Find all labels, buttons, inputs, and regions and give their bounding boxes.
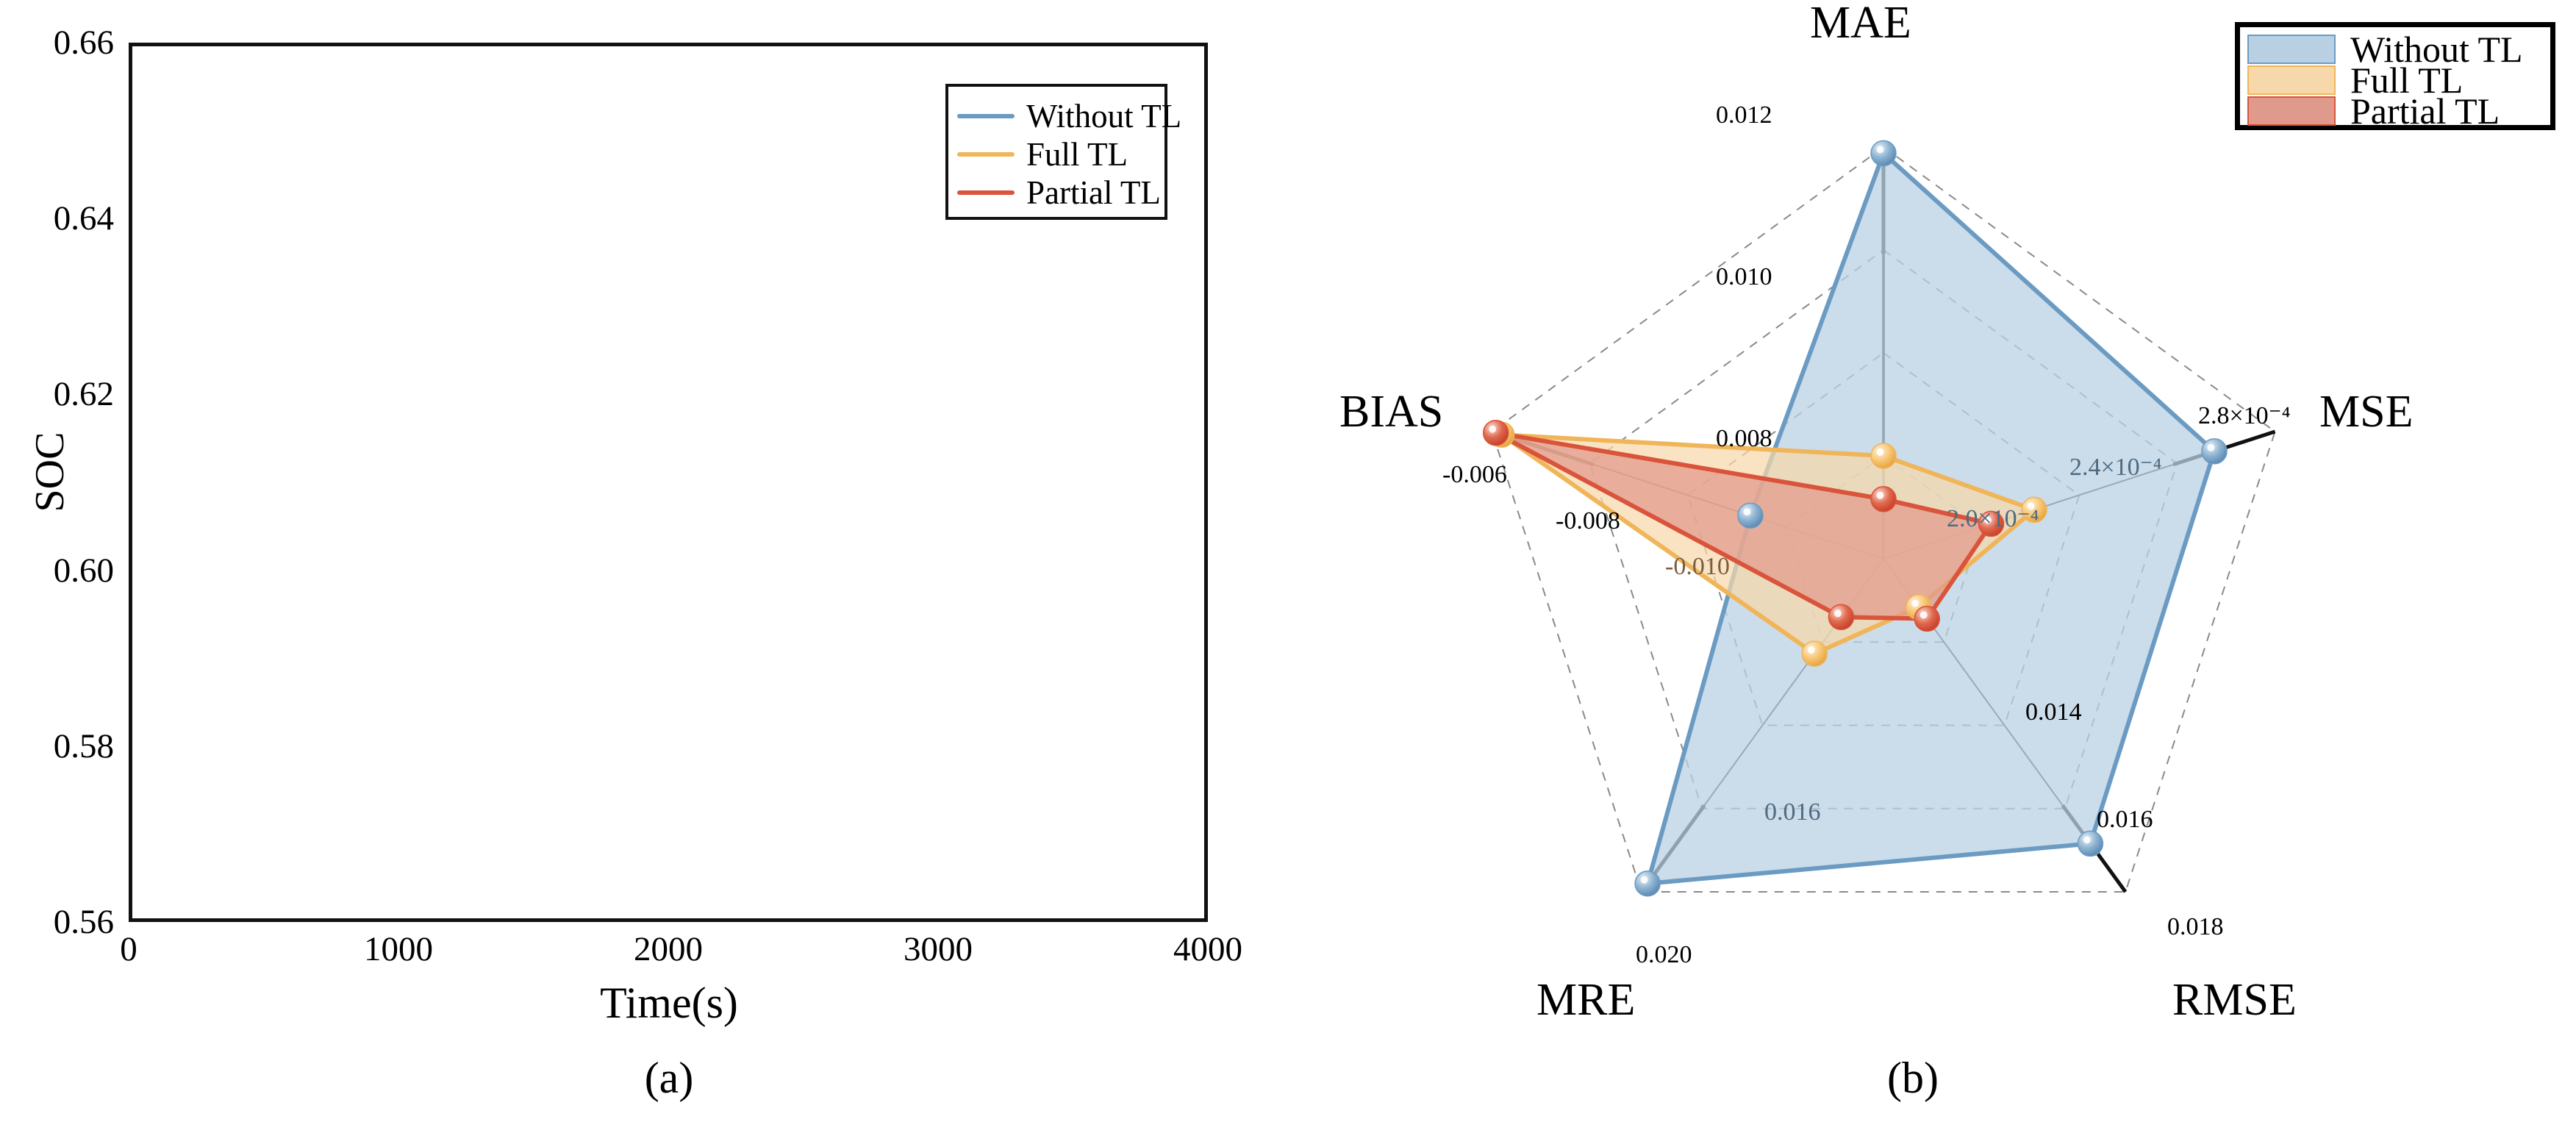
x-tick-label: 0 (120, 929, 137, 969)
radar-axis-label-mae: MAE (1810, 0, 1911, 49)
y-tick-label: 0.64 (54, 199, 114, 238)
y-tick-label: 0.58 (54, 726, 114, 766)
panel-b-legend: Without TL Full TL Partial TL (2235, 22, 2555, 130)
panel-a-x-axis-label: Time(s) (441, 978, 897, 1029)
legend-label: Partial TL (1026, 176, 1161, 210)
legend-item: Full TL (957, 135, 1156, 174)
radar-tick-rmse-1: 0.016 (2097, 806, 2153, 834)
figure-root: 0.66 0.64 0.62 0.60 0.58 0.56 0 1000 200… (0, 0, 2576, 1133)
legend-label: Partial TL (2350, 93, 2500, 129)
radar-marker (1802, 641, 1827, 666)
y-tick-label: 0.56 (54, 902, 114, 942)
radar-tick-bias-1: -0.008 (1556, 507, 1620, 535)
panel-a-caption: (a) (441, 1053, 897, 1104)
radar-tick-mae-2: 0.008 (1716, 425, 1772, 453)
y-tick-label: 0.66 (54, 23, 114, 62)
legend-item: Partial TL (2247, 96, 2543, 126)
panel-b-error-radar: MAE MSE RMSE MRE BIAS 0.012 0.010 0.008 … (1250, 0, 2576, 1133)
radar-tick-mre-0: 0.020 (1636, 941, 1692, 969)
legend-line-swatch-partial-tl (957, 190, 1015, 195)
legend-swatch-full-tl (2247, 65, 2336, 95)
panel-a-soc-timeseries: 0.66 0.64 0.62 0.60 0.58 0.56 0 1000 200… (0, 0, 1250, 1133)
radar-tick-mae-0: 0.012 (1716, 101, 1772, 129)
radar-marker (1871, 487, 1896, 512)
radar-tick-mse-2: 2.0×10⁻⁴ (1947, 504, 2039, 533)
radar-tick-bias-0: -0.006 (1442, 461, 1507, 489)
panel-a-y-axis-label: SOC (26, 376, 74, 568)
radar-tick-rmse-2: 0.014 (2025, 698, 2082, 726)
radar-tick-mse-1: 2.4×10⁻⁴ (2069, 452, 2161, 482)
legend-line-swatch-full-tl (957, 152, 1015, 157)
panel-b-plot-area (1250, 0, 2576, 1073)
radar-marker (1871, 443, 1896, 468)
x-tick-label: 4000 (1173, 929, 1242, 969)
radar-marker (1635, 871, 1660, 896)
radar-axis-label-rmse: RMSE (2172, 974, 2297, 1026)
panel-a-x-axis-ticks: 0 1000 2000 3000 4000 (129, 923, 1208, 975)
radar-axis-label-mre: MRE (1536, 974, 1635, 1026)
legend-label: Full TL (1026, 138, 1128, 171)
radar-marker (1484, 421, 1509, 446)
radar-tick-mre-1: 0.016 (1764, 798, 1821, 826)
radar-tick-mse-0: 2.8×10⁻⁴ (2198, 401, 2290, 430)
radar-marker (1871, 140, 1896, 165)
legend-swatch-without-tl (2247, 35, 2336, 64)
radar-tick-rmse-0: 0.018 (2167, 913, 2224, 941)
radar-marker (1738, 503, 1763, 528)
legend-label: Without TL (1026, 100, 1181, 133)
x-tick-label: 3000 (904, 929, 973, 969)
x-tick-label: 1000 (364, 929, 433, 969)
radar-marker (1828, 604, 1853, 629)
legend-item: Without TL (957, 97, 1156, 135)
radar-marker (1914, 607, 1939, 632)
radar-marker (2202, 439, 2227, 464)
radar-tick-bias-2: -0.010 (1665, 553, 1730, 581)
panel-a-legend: Without TL Full TL Partial TL (945, 84, 1167, 220)
panel-b-caption: (b) (1685, 1053, 2141, 1104)
x-tick-label: 2000 (634, 929, 703, 969)
radar-tick-mae-1: 0.010 (1716, 263, 1772, 291)
radar-marker (2078, 831, 2103, 856)
legend-swatch-partial-tl (2247, 96, 2336, 126)
radar-axis-label-mse: MSE (2319, 386, 2413, 438)
legend-item: Partial TL (957, 174, 1156, 212)
radar-axis-label-bias: BIAS (1339, 386, 1443, 438)
legend-line-swatch-without-tl (957, 114, 1015, 118)
